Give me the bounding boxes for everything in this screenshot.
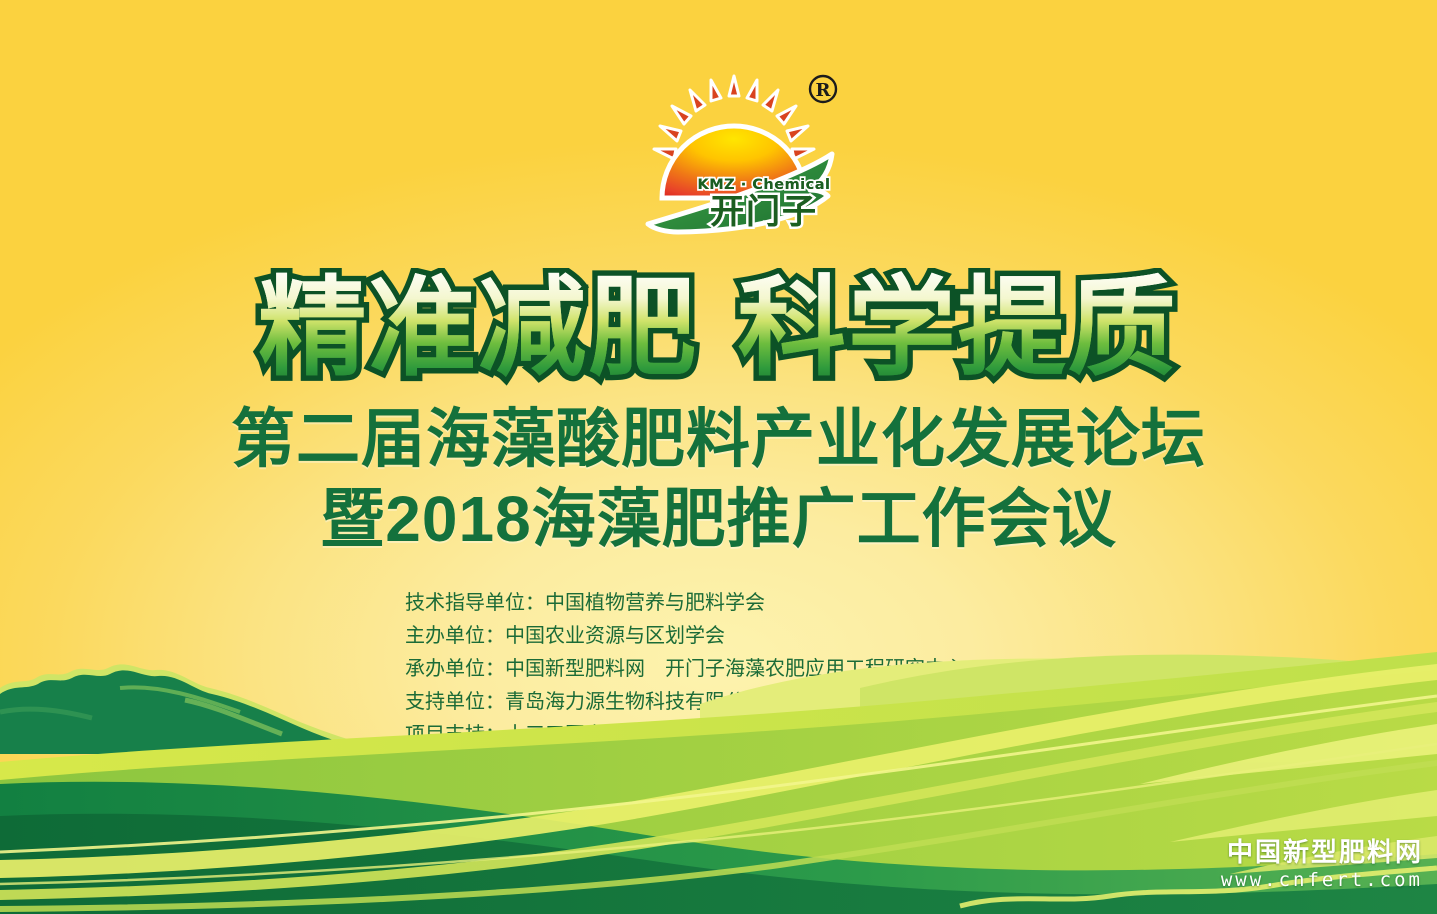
- poster-headline: 精准减肥 科学提质 精准减肥 科学提质: [0, 268, 1437, 388]
- subtitle-line-1: 第二届海藻酸肥料产业化发展论坛: [0, 404, 1437, 474]
- registered-trademark-icon: R: [810, 76, 836, 102]
- svg-text:R: R: [816, 80, 832, 101]
- svg-text:KMZ · Chemical: KMZ · Chemical: [697, 177, 830, 193]
- svg-text:开门子: 开门子: [710, 192, 818, 232]
- subtitle-line-2: 暨2018海藻肥推广工作会议: [0, 484, 1437, 554]
- company-logo: R KMZ · Chemical KMZ · Chemical 开门子 开门子: [634, 66, 839, 241]
- landscape-illustration: [0, 584, 1437, 914]
- poster-canvas: R KMZ · Chemical KMZ · Chemical 开门子 开门子: [0, 0, 1437, 914]
- svg-text:精准减肥 科学提质: 精准减肥 科学提质: [258, 268, 1178, 388]
